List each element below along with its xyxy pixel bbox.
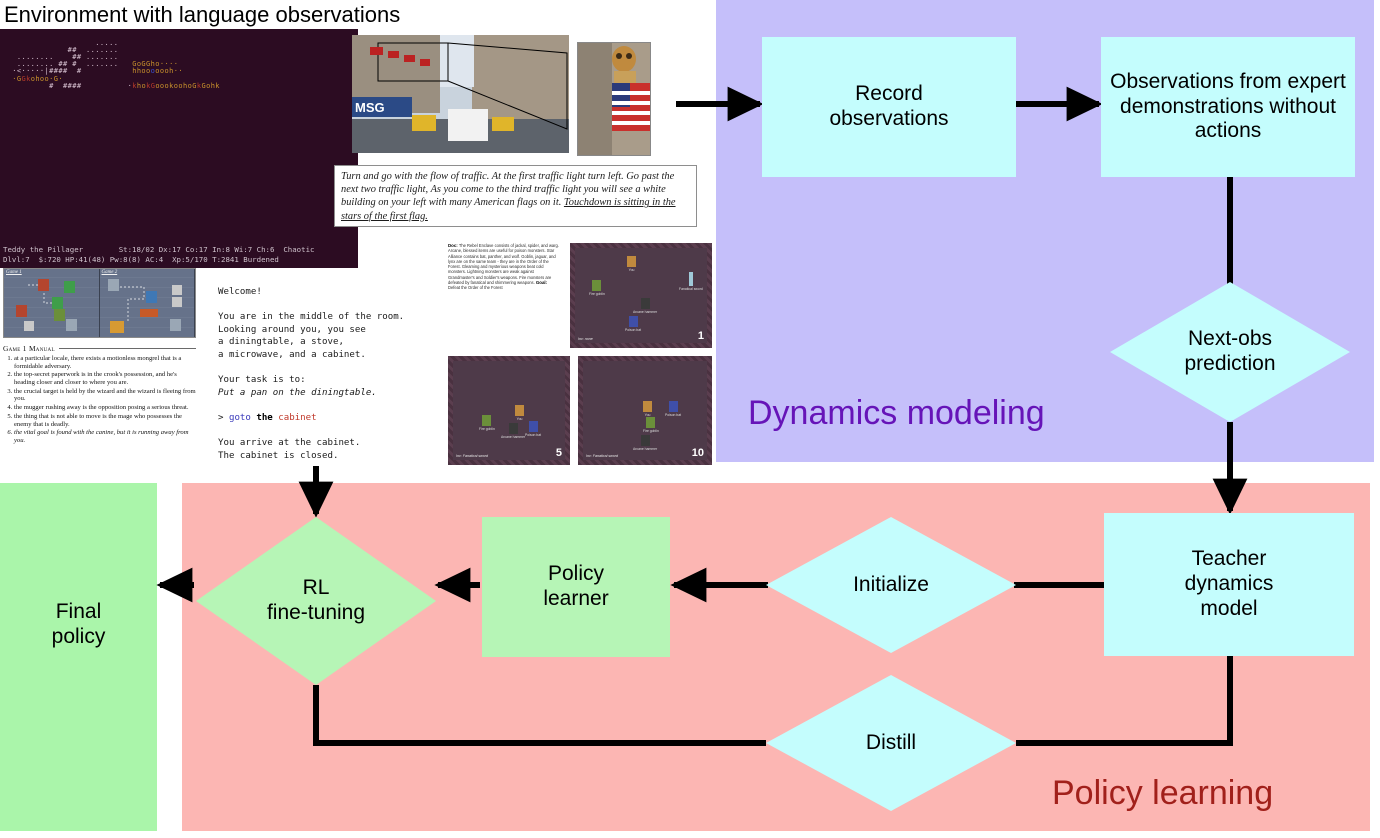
node-record-observations[interactable]: Recordobservations <box>762 37 1016 177</box>
node-next-obs-prediction-label: Next-obsprediction <box>1184 327 1275 377</box>
node-rl-fine-tuning[interactable]: RLfine-tuning <box>196 517 436 685</box>
node-teacher-dynamics-model[interactable]: Teacherdynamicsmodel <box>1104 513 1354 656</box>
dynamics-modeling-title: Dynamics modeling <box>748 396 1045 430</box>
node-record-observations-label: Recordobservations <box>829 82 948 132</box>
node-teacher-dynamics-model-label: Teacherdynamicsmodel <box>1185 547 1274 621</box>
arrow-distill-to-teacher <box>1016 656 1230 743</box>
node-observations-from-expert-demonstrations-label: Observations from expert demonstrations … <box>1101 70 1355 144</box>
node-distill[interactable]: Distill <box>766 675 1016 811</box>
node-next-obs-prediction[interactable]: Next-obsprediction <box>1110 282 1350 422</box>
policy-learning-title: Policy learning <box>1052 776 1273 810</box>
node-policy-learner[interactable]: Policylearner <box>482 517 670 657</box>
arrow-rl-to-distill <box>316 685 766 743</box>
node-policy-learner-label: Policylearner <box>543 562 608 612</box>
node-initialize-label: Initialize <box>853 573 929 598</box>
node-rl-fine-tuning-label: RLfine-tuning <box>267 576 365 626</box>
node-distill-label: Distill <box>866 731 916 756</box>
node-observations-from-expert-demonstrations[interactable]: Observations from expert demonstrations … <box>1101 37 1355 177</box>
node-initialize[interactable]: Initialize <box>766 517 1016 653</box>
